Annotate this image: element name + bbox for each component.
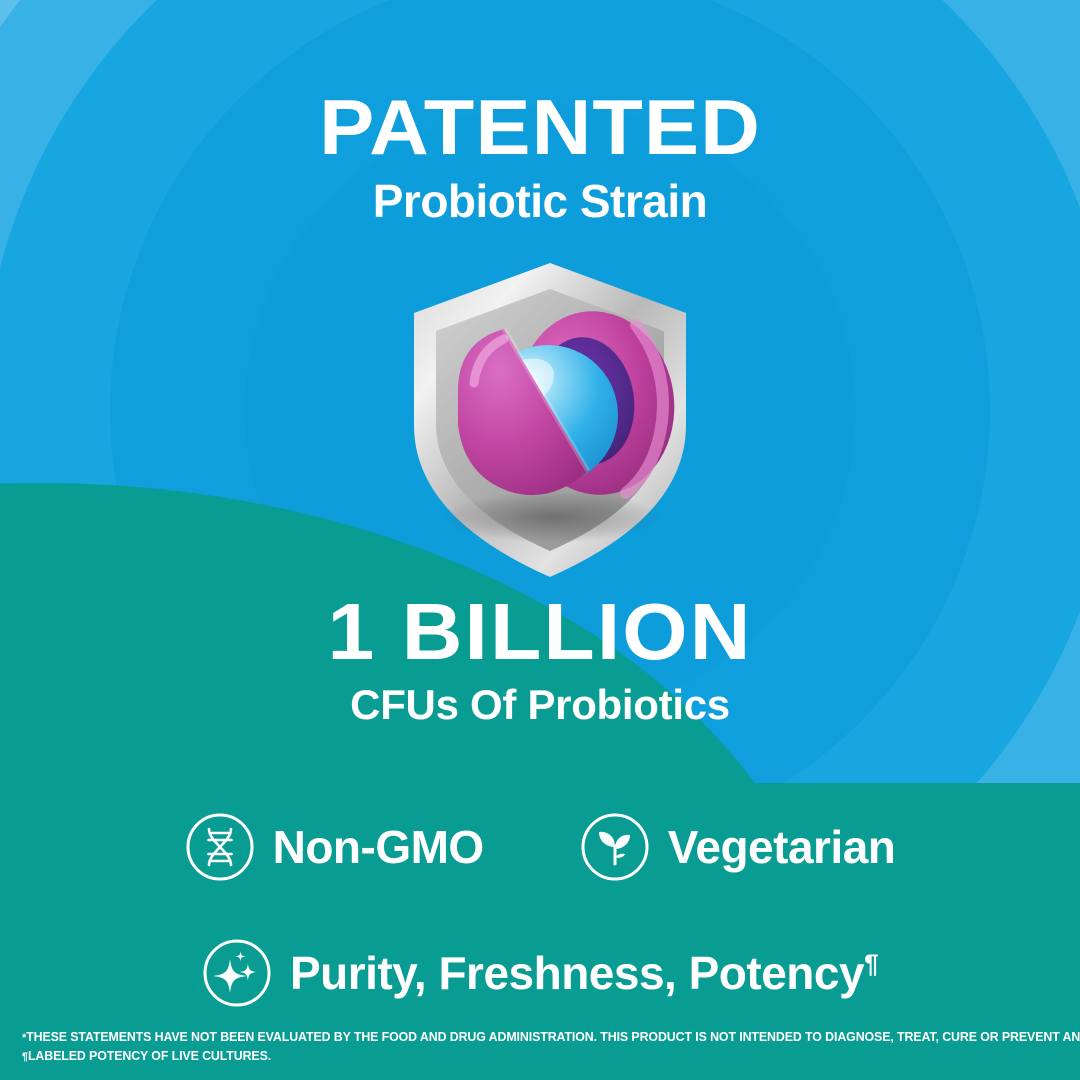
benefits-row-top: Non-GMO Vegetarian <box>0 812 1080 882</box>
page-title: PATENTED <box>0 88 1080 166</box>
sparkle-icon <box>202 938 272 1008</box>
benefit-purity-freshness-potency: Purity, Freshness, Potency¶ <box>202 938 878 1008</box>
disclaimer-line-2: ¶LABELED POTENCY OF LIVE CULTURES. <box>22 1047 1056 1066</box>
sprout-icon <box>580 812 650 882</box>
footnote-mark: ¶ <box>864 949 878 979</box>
benefit-non-gmo: Non-GMO <box>185 812 484 882</box>
benefit-label: Vegetarian <box>668 824 896 870</box>
shield-capsule-probiotic-icon <box>400 255 700 585</box>
disclaimer: *THESE STATEMENTS HAVE NOT BEEN EVALUATE… <box>22 1028 1056 1066</box>
benefits-row-bottom: Purity, Freshness, Potency¶ <box>0 938 1080 1008</box>
potency-block: 1 BILLION CFUs Of Probiotics <box>0 592 1080 726</box>
potency-label: CFUs Of Probiotics <box>0 684 1080 726</box>
benefit-label: Purity, Freshness, Potency¶ <box>290 950 878 996</box>
benefits-section: Non-GMO Vegetarian <box>0 812 1080 1008</box>
benefit-label: Non-GMO <box>273 824 484 870</box>
benefit-vegetarian: Vegetarian <box>580 812 896 882</box>
page-subtitle: Probiotic Strain <box>0 178 1080 224</box>
headline-block: PATENTED Probiotic Strain <box>0 88 1080 224</box>
disclaimer-line-1: *THESE STATEMENTS HAVE NOT BEEN EVALUATE… <box>22 1028 1056 1047</box>
dna-icon <box>185 812 255 882</box>
potency-amount: 1 BILLION <box>0 592 1080 672</box>
infographic-canvas: PATENTED Probiotic Strain <box>0 0 1080 1080</box>
